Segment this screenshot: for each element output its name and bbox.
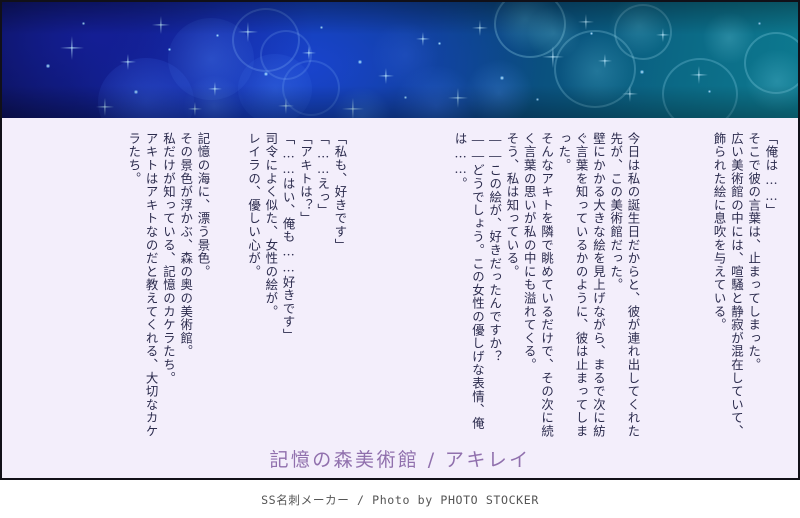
sparkle-icon: [60, 36, 84, 60]
bokeh-disc: [370, 22, 440, 88]
footer-credit-bar: SS名刺メーカー / Photo by PHOTO STOCKER: [0, 482, 800, 518]
bokeh-ring: [494, 2, 566, 58]
bokeh-ring: [282, 60, 340, 116]
bokeh-disc: [168, 18, 254, 100]
light-dot: [708, 90, 711, 93]
light-dot: [134, 90, 138, 94]
light-dot: [168, 48, 171, 51]
bokeh-disc: [98, 58, 194, 118]
bokeh-disc: [332, 88, 392, 118]
business-card: 「俺は……」 そこで彼の言葉は、止まってしまった。 広い美術館の中には、喧騒と静…: [0, 0, 800, 480]
sparkle-icon: [578, 14, 594, 30]
story-column: そう、私は知っている。 ――この絵が、好きだったんですか？ ――どうでしょう。こ…: [452, 132, 521, 448]
bokeh-ring: [662, 58, 738, 118]
sparkle-icon: [120, 54, 136, 70]
bokeh-disc: [702, 12, 756, 64]
sparkle-icon: [690, 66, 708, 84]
light-dot: [590, 32, 593, 35]
sparkle-icon: [656, 28, 670, 42]
sparkle-icon: [278, 98, 294, 114]
story-body: 「俺は……」 そこで彼の言葉は、止まってしまった。 広い美術館の中には、喧騒と静…: [2, 118, 798, 478]
light-dot: [358, 60, 362, 64]
sparkle-icon: [96, 98, 114, 116]
light-dot: [264, 72, 268, 76]
sparkle-icon: [448, 88, 468, 108]
card-title: 記憶の森美術館 / アキレイ: [2, 445, 798, 472]
sparkle-icon: [598, 54, 612, 68]
sparkle-icon: [188, 102, 202, 116]
light-dot: [536, 98, 539, 101]
bokeh-disc: [526, 6, 582, 60]
bokeh-ring: [232, 8, 300, 72]
sparkle-icon: [416, 32, 430, 46]
bokeh-disc: [182, 76, 246, 118]
sparkle-icon: [302, 46, 316, 60]
bokeh-disc: [238, 54, 312, 118]
bokeh-disc: [490, 2, 560, 52]
light-dot: [46, 64, 50, 68]
light-dot: [758, 22, 761, 25]
light-dot: [500, 76, 504, 80]
bokeh-disc: [464, 60, 534, 118]
bokeh-night-photo: [2, 2, 798, 118]
bokeh-ring: [260, 30, 312, 80]
light-dot: [216, 34, 219, 37]
bokeh-ring: [744, 32, 798, 94]
bokeh-ring: [554, 30, 636, 108]
bokeh-disc: [392, 66, 480, 118]
sparkle-icon: [378, 68, 394, 84]
story-column: 「私も、好きです」 「……えっ」 「アキトは？」 「……はい、俺も……好きです」…: [245, 132, 349, 448]
page-root: 「俺は……」 そこで彼の言葉は、止まってしまった。 広い美術館の中には、喧騒と静…: [0, 0, 800, 518]
sparkle-icon: [152, 16, 170, 34]
light-dot: [320, 26, 323, 29]
sparkle-icon: [342, 98, 364, 118]
sparkle-icon: [472, 20, 488, 36]
sparkle-icon: [238, 22, 258, 42]
story-column: 記憶の海に、漂う景色。 その景色が浮かぶ、森の奥の美術館。 私だけが知っている、…: [126, 132, 212, 448]
story-column: 「俺は……」 そこで彼の言葉は、止まってしまった。 広い美術館の中には、喧騒と静…: [711, 132, 780, 448]
bokeh-disc: [608, 2, 670, 56]
bokeh-disc: [744, 50, 798, 112]
light-dot: [82, 22, 85, 25]
light-dot: [640, 70, 644, 74]
light-dot: [404, 96, 407, 99]
bokeh-ring: [614, 4, 672, 60]
story-column: 今日は私の誕生日だからと、彼が連れ出してくれた先が、この美術館だった。 壁にかか…: [521, 132, 642, 448]
light-dot: [438, 42, 441, 45]
sparkle-icon: [542, 46, 564, 68]
sparkle-icon: [208, 82, 222, 96]
bokeh-disc: [558, 34, 636, 108]
footer-credit-text: SS名刺メーカー / Photo by PHOTO STOCKER: [261, 492, 539, 508]
sparkle-icon: [622, 86, 638, 102]
